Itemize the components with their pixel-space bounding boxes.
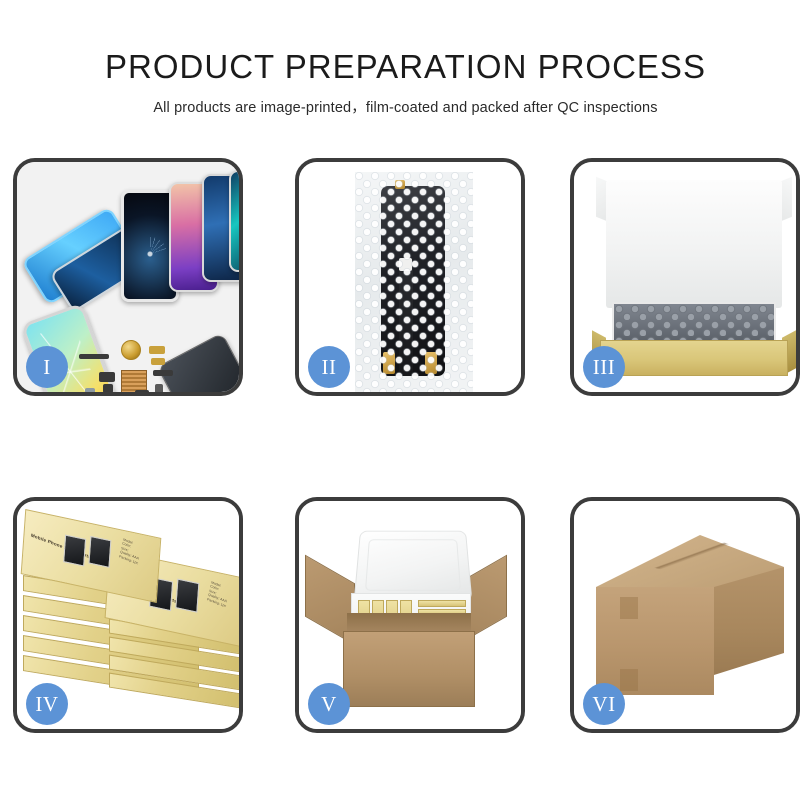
carton-front-face-6 xyxy=(596,587,714,695)
box-image-swatch-r2 xyxy=(175,579,199,613)
step-badge-2: II xyxy=(308,346,350,388)
step-panel-2: II xyxy=(295,158,525,396)
step-badge-3: III xyxy=(583,346,625,388)
box-image-swatch-l2 xyxy=(88,536,111,568)
small-part-2 xyxy=(149,346,165,354)
step-badge-1: I xyxy=(26,346,68,388)
step-badge-5: V xyxy=(308,683,350,725)
step-badge-4: IV xyxy=(26,683,68,725)
step-badge-6: VI xyxy=(583,683,625,725)
box-spec-left: Model: Color: Size: Quality: AAA Packing… xyxy=(119,538,143,566)
small-part-8 xyxy=(153,370,173,376)
small-part-1 xyxy=(79,354,109,359)
bubble-wrap-bag xyxy=(355,172,473,392)
small-part-9 xyxy=(155,384,163,392)
foam-box-lid xyxy=(354,531,473,602)
small-part-4 xyxy=(99,372,115,382)
step-panel-3: III xyxy=(570,158,800,396)
small-part-3 xyxy=(151,358,165,365)
gold-coin-part xyxy=(121,340,141,360)
gold-box-h1 xyxy=(418,600,466,607)
step-panel-1: I xyxy=(13,158,243,396)
small-part-10 xyxy=(85,388,95,392)
white-box-lid xyxy=(606,180,782,308)
bubble-texture xyxy=(355,172,473,392)
steps-grid: I II xyxy=(0,0,811,811)
box-spec-right: Model: Color: Size: Quality: AAA Packing… xyxy=(207,580,231,608)
copper-chip xyxy=(121,370,147,392)
small-part-7 xyxy=(135,390,149,392)
small-part-5 xyxy=(103,384,113,392)
product-preparation-infographic: PRODUCT PREPARATION PROCESS All products… xyxy=(0,0,811,811)
bubble-foam-filling xyxy=(612,302,776,342)
phone-teal xyxy=(229,170,239,272)
step-panel-6: VI xyxy=(570,497,800,733)
step-panel-5: V xyxy=(295,497,525,733)
gold-box-base xyxy=(600,340,788,376)
carton-tape-upper xyxy=(620,597,638,619)
box-image-swatch-l1 xyxy=(63,534,86,566)
step-panel-4: Mobile Phone Spare Parts Model: Color: S… xyxy=(13,497,243,733)
carton-tape-lower xyxy=(620,669,638,691)
carton-front-face xyxy=(343,631,475,707)
